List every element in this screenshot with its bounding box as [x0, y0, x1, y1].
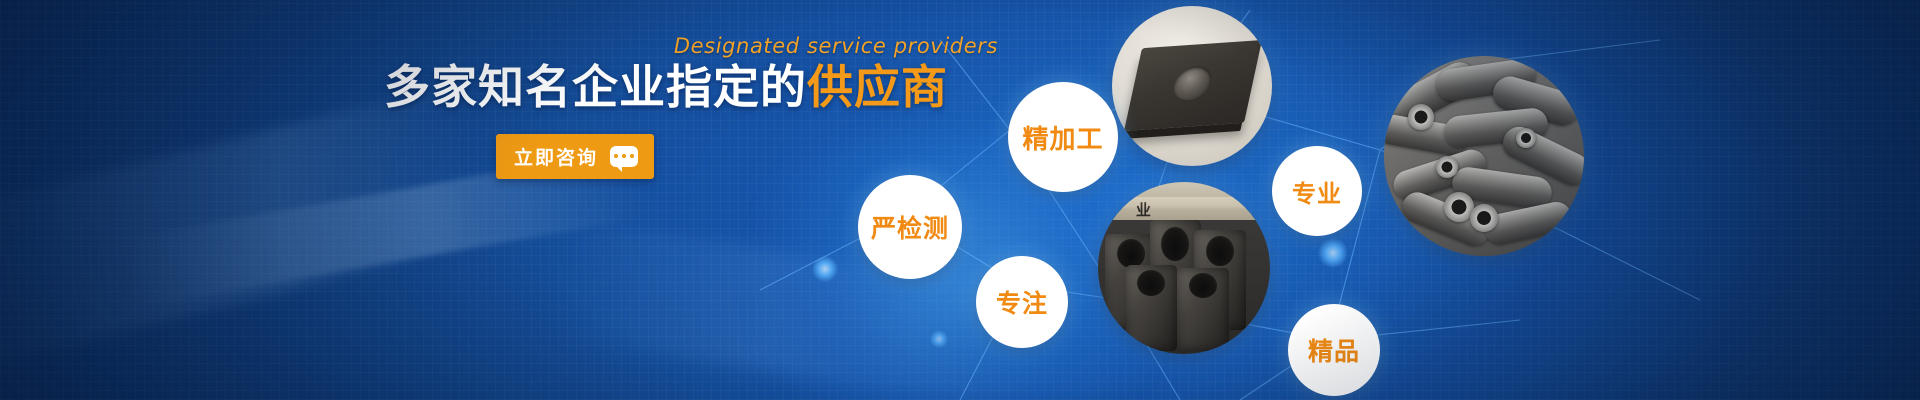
- photo-circle-steel-tubes[interactable]: [1384, 56, 1584, 256]
- spark-4: [1318, 238, 1348, 268]
- tag-label-focus: 专注: [996, 284, 1048, 320]
- photo-circle-hex-nuts[interactable]: 业: [1098, 182, 1270, 354]
- tag-label-premium: 精品: [1308, 332, 1360, 368]
- promo-banner: Designated service providers 多家知名企业指定的供应…: [0, 0, 1920, 400]
- tag-label-strict-inspection: 严检测: [871, 209, 949, 245]
- headline-block: Designated service providers 多家知名企业指定的供应…: [384, 34, 1004, 179]
- eyebrow-text: Designated service providers: [384, 34, 1004, 58]
- spark-5: [930, 330, 948, 348]
- tag-circle-strict-inspection[interactable]: 严检测: [858, 175, 962, 279]
- tag-circle-focus[interactable]: 专注: [976, 256, 1068, 348]
- page-title: 多家知名企业指定的供应商: [384, 62, 1004, 114]
- headline-orange-part: 供应商: [807, 61, 948, 113]
- square-plate-shape: [1124, 40, 1262, 131]
- consult-now-button[interactable]: 立即咨询: [496, 134, 654, 179]
- photo-circle-square-plate[interactable]: [1112, 6, 1272, 166]
- tag-circle-premium[interactable]: 精品: [1288, 304, 1380, 396]
- consult-now-label: 立即咨询: [514, 143, 598, 170]
- tag-label-professional: 专业: [1292, 174, 1342, 209]
- spark-2: [812, 256, 838, 282]
- chat-bubble-icon: [610, 146, 638, 167]
- headline-white-part: 多家知名企业指定的: [384, 61, 807, 113]
- tag-label-fine-machining: 精加工: [1022, 119, 1103, 156]
- tag-circle-fine-machining[interactable]: 精加工: [1008, 82, 1118, 192]
- tag-circle-professional[interactable]: 专业: [1272, 146, 1362, 236]
